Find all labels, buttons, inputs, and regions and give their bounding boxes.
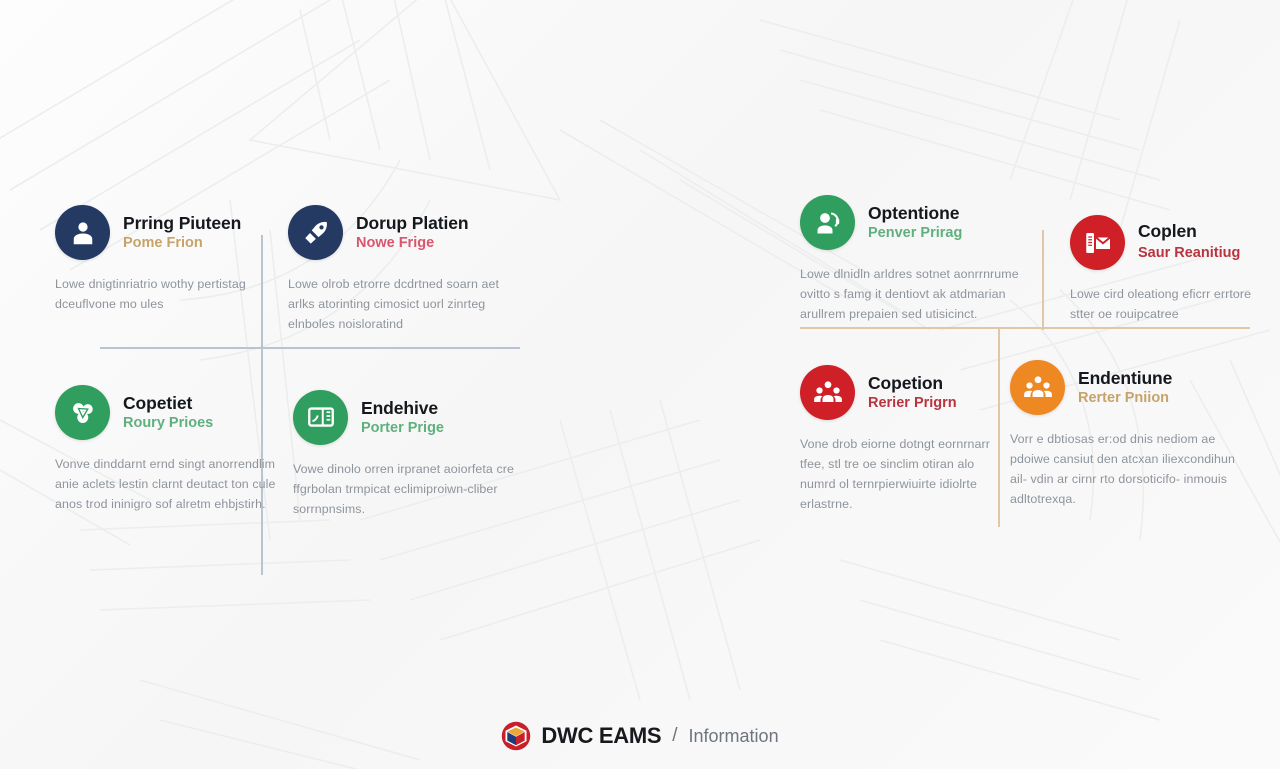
molecule-cluster-icon [55, 385, 110, 440]
item-header-text: Dorup Platien Nowe Frige [356, 214, 468, 252]
footer-branding: DWC EAMS / Information [0, 721, 1280, 751]
item-description: Vowe dinolo orren irpranet aoiorfeta cre… [293, 459, 518, 519]
mail-document-icon [1070, 215, 1125, 270]
item-header: Optentione Penver Prirag [800, 195, 1020, 250]
footer-subtitle: Information [689, 726, 779, 747]
item-subtitle: Nowe Frige [356, 236, 468, 252]
item-header: Copetiet Roury Prioes [55, 385, 283, 440]
item-subtitle: Penver Prirag [868, 226, 962, 242]
item-subtitle: Pome Frion [123, 236, 241, 252]
feature-item-prring-piuteen[interactable]: Prring Piuteen Pome Frion Lowe dnigtinri… [55, 205, 280, 314]
feature-item-coplen[interactable]: Coplen Saur Reanitiug Lowe cird oleation… [1070, 215, 1270, 324]
feature-item-endentiune[interactable]: Endentiune Rerter Pniion Vorr e dbtiosas… [1010, 360, 1240, 509]
item-header: Endehive Porter Prige [293, 390, 518, 445]
footer-brand-name: DWC EAMS [541, 723, 661, 749]
item-subtitle: Saur Reanitiug [1138, 244, 1240, 262]
person-user-icon [55, 205, 110, 260]
infographic-canvas: Prring Piuteen Pome Frion Lowe dnigtinri… [0, 0, 1280, 769]
item-subtitle: Roury Prioes [123, 416, 213, 432]
item-header-text: Endentiune Rerter Pniion [1078, 369, 1172, 407]
dwc-eams-cube-logo-icon [501, 721, 531, 751]
item-description: Lowe dnigtinriatrio wothy pertistag dceu… [55, 274, 280, 314]
left-quadrant-group: Prring Piuteen Pome Frion Lowe dnigtinri… [30, 180, 550, 580]
feature-item-dorup-platien[interactable]: Dorup Platien Nowe Frige Lowe olrob etro… [288, 205, 518, 334]
right-group-horizontal-divider [800, 327, 1250, 329]
item-header: Coplen Saur Reanitiug [1070, 215, 1270, 270]
item-header: Copetion Rerier Prigrn [800, 365, 1000, 420]
feature-item-copetiet[interactable]: Copetiet Roury Prioes Vonve dinddarnt er… [55, 385, 283, 514]
item-description: Lowe cird oleationg eficrr errtore stter… [1070, 284, 1270, 324]
item-header: Prring Piuteen Pome Frion [55, 205, 280, 260]
people-group-icon [800, 365, 855, 420]
headset-support-icon [800, 195, 855, 250]
item-description: Vone drob eiorne dotngt eornrnarr tfee, … [800, 434, 1000, 514]
item-title: Endehive [361, 399, 444, 418]
item-title: Copetiet [123, 394, 213, 413]
item-title: Coplen [1138, 222, 1240, 241]
item-description: Vonve dinddarnt ernd singt anorrendlim a… [55, 454, 283, 514]
item-subtitle: Rerier Prigrn [868, 396, 957, 412]
item-description: Lowe olrob etrorre dcdrtned soarn aet ar… [288, 274, 518, 334]
item-title: Optentione [868, 204, 962, 223]
feature-item-copetion[interactable]: Copetion Rerier Prigrn Vone drob eiorne … [800, 365, 1000, 514]
people-group-icon [1010, 360, 1065, 415]
item-description: Vorr e dbtiosas er:od dnis nediom ae pdo… [1010, 429, 1240, 509]
item-header-text: Coplen Saur Reanitiug [1138, 222, 1240, 262]
item-subtitle: Porter Prige [361, 421, 444, 437]
monitor-screen-icon [293, 390, 348, 445]
right-group-vertical-divider-top [1042, 230, 1044, 330]
item-title: Dorup Platien [356, 214, 468, 233]
item-header: Dorup Platien Nowe Frige [288, 205, 518, 260]
item-title: Copetion [868, 374, 957, 393]
item-title: Prring Piuteen [123, 214, 241, 233]
right-quadrant-group: Optentione Penver Prirag Lowe dlnidln ar… [785, 170, 1265, 560]
item-title: Endentiune [1078, 369, 1172, 388]
feature-item-endehive[interactable]: Endehive Porter Prige Vowe dinolo orren … [293, 390, 518, 519]
item-header-text: Prring Piuteen Pome Frion [123, 214, 241, 252]
rocket-launch-icon [288, 205, 343, 260]
feature-item-optentione[interactable]: Optentione Penver Prirag Lowe dlnidln ar… [800, 195, 1020, 324]
left-group-horizontal-divider [100, 347, 520, 349]
item-header-text: Optentione Penver Prirag [868, 204, 962, 242]
item-header-text: Endehive Porter Prige [361, 399, 444, 437]
item-header-text: Copetion Rerier Prigrn [868, 374, 957, 412]
item-header: Endentiune Rerter Pniion [1010, 360, 1240, 415]
item-subtitle: Rerter Pniion [1078, 391, 1172, 407]
item-description: Lowe dlnidln arldres sotnet aonrrnrume o… [800, 264, 1020, 324]
footer-separator: / [672, 725, 677, 747]
item-header-text: Copetiet Roury Prioes [123, 394, 213, 432]
